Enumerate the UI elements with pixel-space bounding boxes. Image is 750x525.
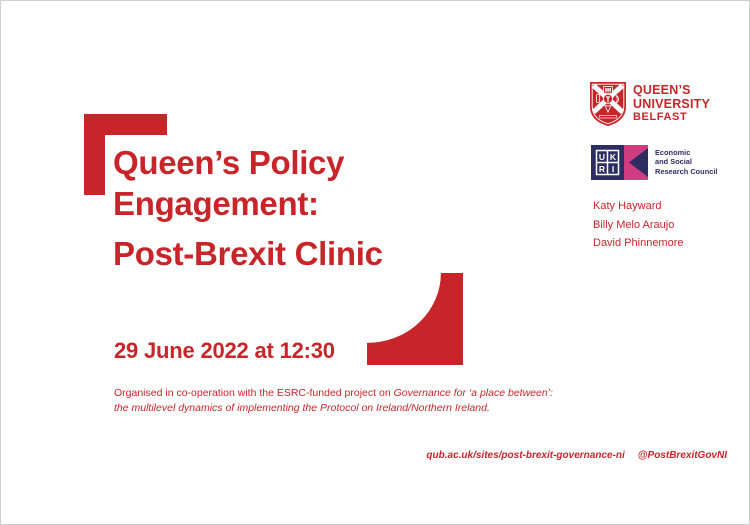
qub-wordmark-line-2: UNIVERSITY <box>633 98 710 112</box>
qub-wordmark: QUEEN’S UNIVERSITY BELFAST <box>633 81 710 125</box>
esrc-wordmark-line-3: Research Council <box>655 167 717 176</box>
bracket-vertical-arm <box>84 114 105 195</box>
twitter-handle-link[interactable]: @PostBrexitGovNI <box>638 450 727 461</box>
organiser-note: Organised in co-operation with the ESRC-… <box>114 386 634 416</box>
list-item: Katy Hayward <box>593 197 684 216</box>
page-title: Queen’s Policy Engagement: Post-Brexit C… <box>113 142 533 274</box>
svg-text:K: K <box>610 152 617 162</box>
svg-text:U: U <box>599 152 605 162</box>
svg-text:R: R <box>599 164 605 174</box>
presentation-slide: Queen’s Policy Engagement: Post-Brexit C… <box>0 0 750 525</box>
title-line-1: Queen’s Policy <box>113 142 533 183</box>
note-line-2: the multilevel dynamics of implementing … <box>114 402 490 414</box>
esrc-wordmark: Economic and Social Research Council <box>648 145 717 176</box>
esrc-wordmark-line-1: Economic <box>655 148 717 157</box>
title-line-2: Engagement: <box>113 183 533 224</box>
esrc-logo: U K R I Economic and Social Research Cou… <box>591 145 717 180</box>
qub-wordmark-line-1: QUEEN’S <box>633 84 710 98</box>
title-line-3: Post-Brexit Clinic <box>113 233 533 274</box>
qub-crest-icon <box>589 81 627 127</box>
qub-wordmark-line-3: BELFAST <box>633 111 710 125</box>
esrc-wordmark-line-2: and Social <box>655 157 717 166</box>
quarter-arc-shape <box>367 273 463 365</box>
website-url-link[interactable]: qub.ac.uk/sites/post-brexit-governance-n… <box>426 450 624 461</box>
list-item: Billy Melo Araujo <box>593 216 684 235</box>
list-item: David Phinnemore <box>593 234 684 253</box>
note-project-title: Governance for ‘a place between’: <box>394 387 553 399</box>
speaker-list: Katy Hayward Billy Melo Araujo David Phi… <box>593 197 684 253</box>
event-datetime: 29 June 2022 at 12:30 <box>114 338 335 364</box>
footer-links: qub.ac.uk/sites/post-brexit-governance-n… <box>426 450 727 461</box>
note-lead-text: Organised in co-operation with the ESRC-… <box>114 387 394 399</box>
qub-logo: QUEEN’S UNIVERSITY BELFAST <box>589 81 710 127</box>
svg-text:I: I <box>612 164 614 174</box>
ukri-esrc-icon: U K R I <box>591 145 648 180</box>
